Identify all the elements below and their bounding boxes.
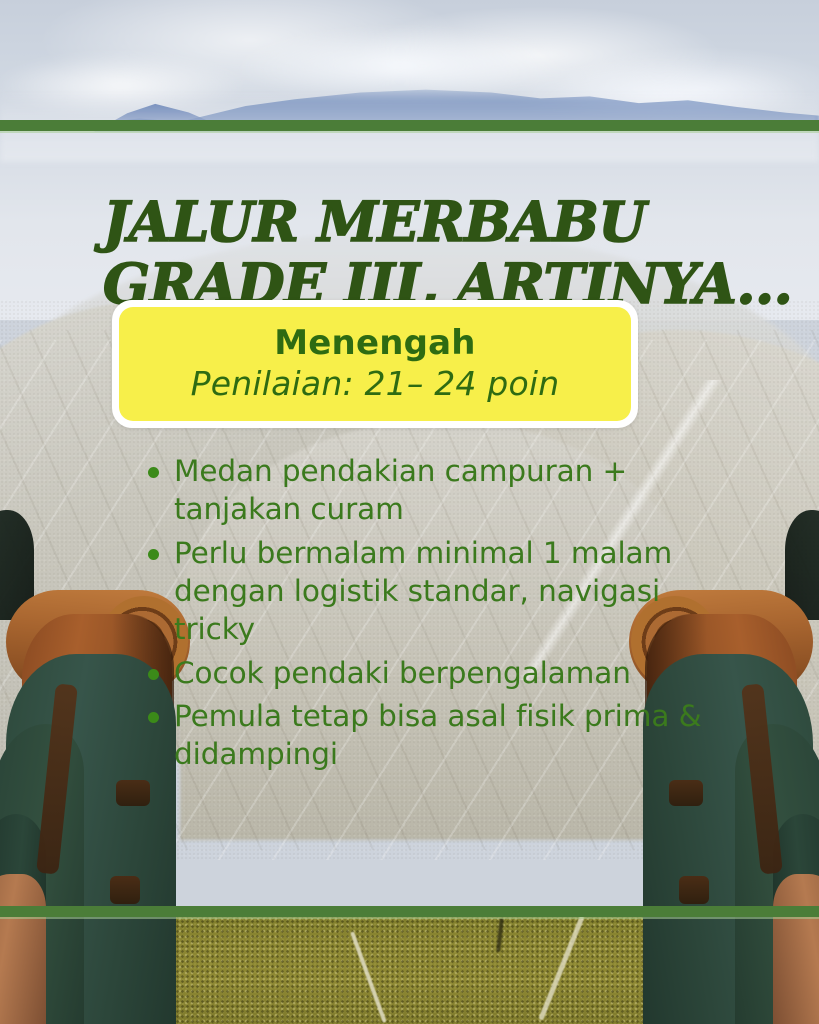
badge-level-label: Menengah bbox=[274, 325, 475, 362]
poster-canvas: JALUR MERBABU GRADE III, ARTINYA... Mene… bbox=[0, 0, 819, 1024]
grade-badge-frame: Menengah Penilaian: 21– 24 poin bbox=[112, 300, 638, 428]
list-item: Pemula tetap bisa asal fisik prima & did… bbox=[142, 697, 722, 774]
title-line-1: JALUR MERBABU bbox=[103, 191, 763, 253]
poster-content: JALUR MERBABU GRADE III, ARTINYA... Mene… bbox=[0, 0, 819, 1024]
status-badge: Menengah Penilaian: 21– 24 poin bbox=[119, 307, 631, 421]
list-item: Cocok pendaki berpengalaman bbox=[142, 654, 722, 692]
list-item: Medan pendakian campuran + tanjakan cura… bbox=[142, 452, 722, 529]
list-item: Perlu bermalam minimal 1 malam dengan lo… bbox=[142, 534, 722, 649]
badge-score-label: Penilaian: 21– 24 poin bbox=[191, 365, 560, 403]
page-title: JALUR MERBABU GRADE III, ARTINYA... bbox=[103, 191, 763, 315]
feature-list: Medan pendakian campuran + tanjakan cura… bbox=[142, 452, 722, 779]
